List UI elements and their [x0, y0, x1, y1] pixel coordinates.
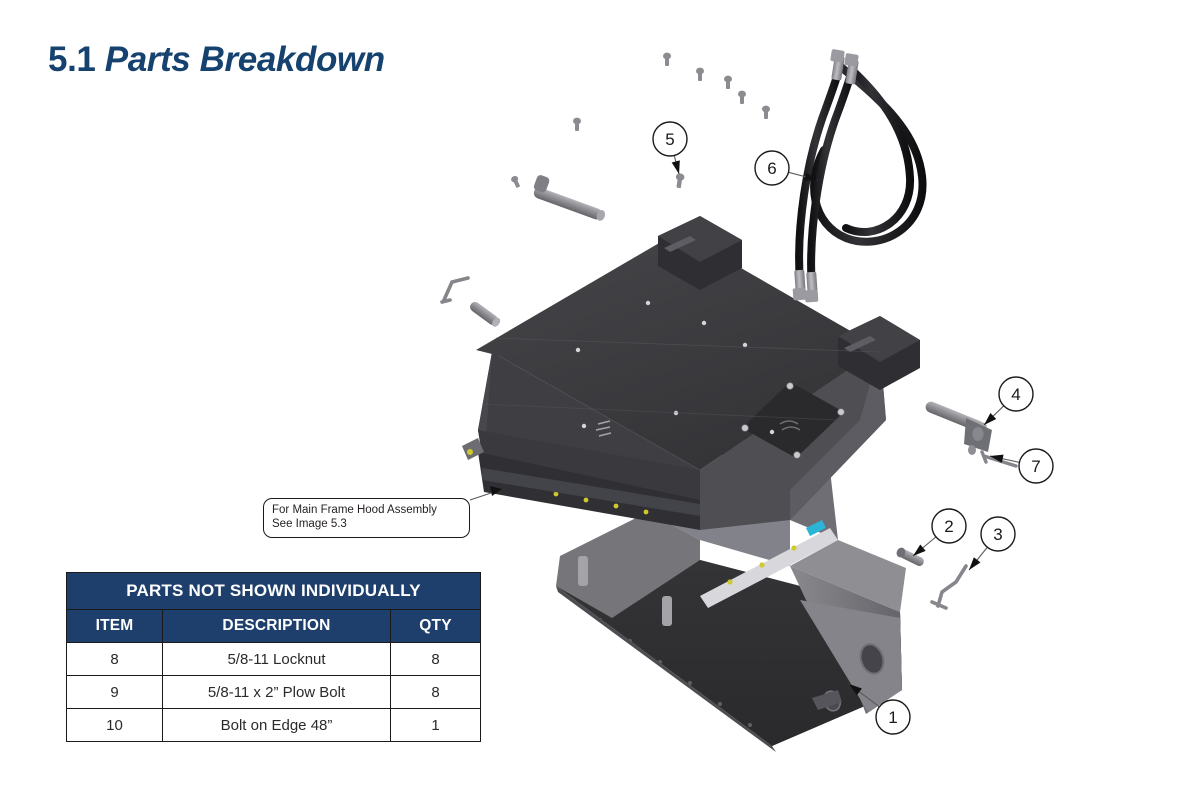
callout-balloon-6[interactable]: 6 — [755, 151, 818, 185]
note-line-2: See Image 5.3 — [272, 518, 469, 532]
arrowhead — [672, 160, 680, 174]
note-line-1: For Main Frame Hood Assembly — [272, 504, 469, 518]
callout-balloons: 1234567 — [0, 0, 1200, 800]
arrowhead — [804, 173, 818, 181]
balloon-number: 4 — [1011, 385, 1020, 404]
balloon-number: 1 — [888, 708, 897, 727]
callout-balloon-5[interactable]: 5 — [653, 122, 687, 174]
balloon-number: 3 — [993, 525, 1002, 544]
balloon-number: 7 — [1031, 457, 1040, 476]
balloon-number: 2 — [944, 517, 953, 536]
balloon-number: 5 — [665, 130, 674, 149]
arrowhead — [849, 684, 862, 695]
arrowhead — [990, 455, 1004, 463]
callout-balloon-1[interactable]: 1 — [849, 684, 910, 734]
arrowhead — [969, 557, 980, 570]
arrowhead — [913, 544, 926, 556]
callout-balloon-4[interactable]: 4 — [984, 377, 1033, 425]
note-leader — [470, 486, 502, 500]
note-callout-box: For Main Frame Hood Assembly See Image 5… — [263, 498, 470, 538]
callout-balloon-2[interactable]: 2 — [913, 509, 966, 556]
balloon-number: 6 — [767, 159, 776, 178]
callout-balloon-7[interactable]: 7 — [990, 449, 1053, 483]
callout-balloon-3[interactable]: 3 — [969, 517, 1015, 570]
